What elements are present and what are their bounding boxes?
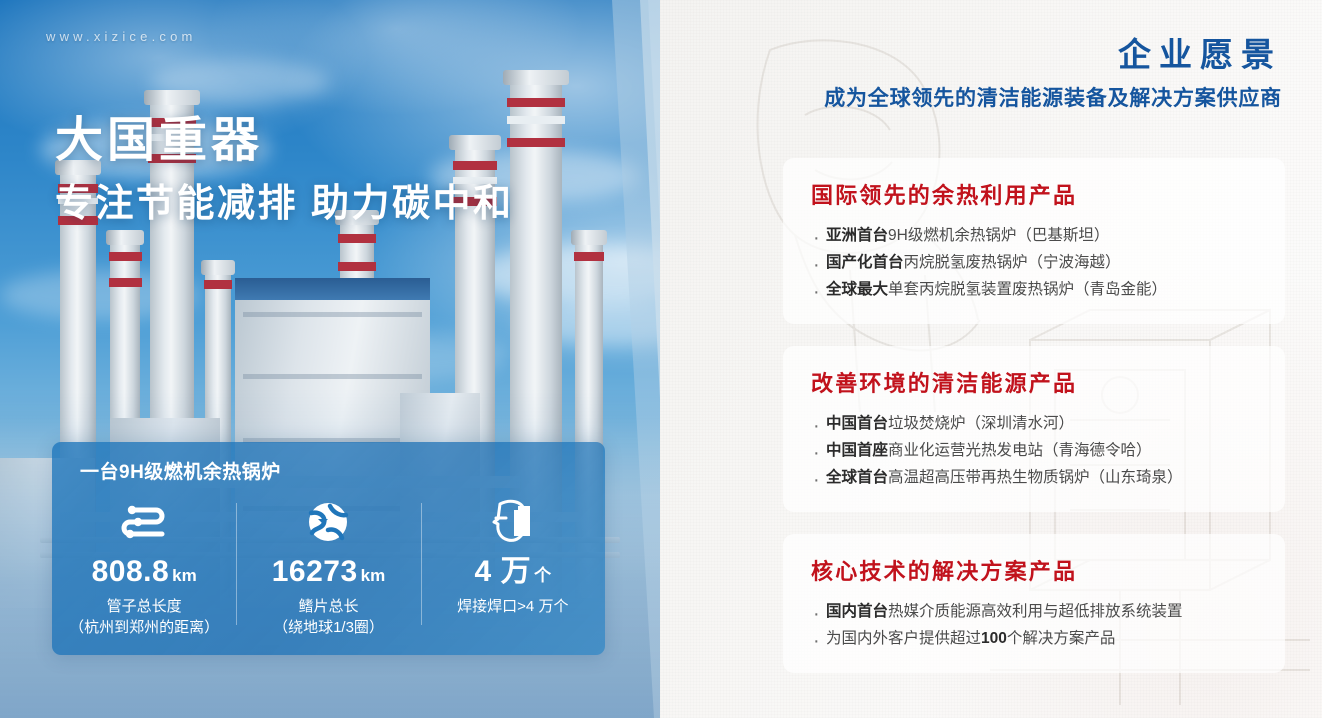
list-item: 全球首台高温超高压带再热生物质锅炉（山东琦泉） xyxy=(811,465,1259,492)
bullet-list: 中国首台垃圾焚烧炉（深圳清水河） 中国首座商业化运营光热发电站（青海德令哈） 全… xyxy=(811,411,1259,492)
card-title: 核心技术的解决方案产品 xyxy=(811,554,1259,586)
stat-item: 16273km 鳍片总长 （绕地球1/3圈） xyxy=(236,497,420,639)
list-item: 中国首座商业化运营光热发电站（青海德令哈） xyxy=(811,438,1259,465)
list-item: 中国首台垃圾焚烧炉（深圳清水河） xyxy=(811,411,1259,438)
stat-label: 管子总长度 （杭州到郑州的距离） xyxy=(69,596,219,639)
site-url-watermark: www.xizice.com xyxy=(46,29,197,44)
list-item: 国内首台热媒介质能源高效利用与超低排放系统装置 xyxy=(811,599,1259,626)
vision-card[interactable]: 改善环境的清洁能源产品 中国首台垃圾焚烧炉（深圳清水河） 中国首座商业化运营光热… xyxy=(783,346,1285,512)
vision-cards: 国际领先的余热利用产品 亚洲首台9H级燃机余热锅炉（巴基斯坦） 国产化首台丙烷脱… xyxy=(783,158,1285,695)
welding-helmet-icon xyxy=(488,497,538,547)
stat-value: 808.8km xyxy=(92,557,197,587)
stat-item: 4 万个 焊接焊口>4 万个 xyxy=(421,497,605,617)
coiled-pipe-icon xyxy=(116,497,172,547)
bullet-list: 亚洲首台9H级燃机余热锅炉（巴基斯坦） 国产化首台丙烷脱氢废热锅炉（宁波海越） … xyxy=(811,223,1259,304)
hero-headline: 大国重器 xyxy=(55,100,263,170)
globe-icon xyxy=(304,497,352,547)
stats-row: 808.8km 管子总长度 （杭州到郑州的距离） xyxy=(52,497,605,652)
vision-card[interactable]: 核心技术的解决方案产品 国内首台热媒介质能源高效利用与超低排放系统装置 为国内外… xyxy=(783,534,1285,673)
list-item: 全球最大单套丙烷脱氢装置废热锅炉（青岛金能） xyxy=(811,277,1259,304)
stat-label: 鳍片总长 （绕地球1/3圈） xyxy=(273,596,384,639)
stat-value: 4 万个 xyxy=(475,557,552,587)
page-title: 企业愿景 xyxy=(1118,28,1282,76)
list-item: 亚洲首台9H级燃机余热锅炉（巴基斯坦） xyxy=(811,223,1259,250)
page-subtitle: 成为全球领先的清洁能源装备及解决方案供应商 xyxy=(824,82,1282,112)
card-title: 国际领先的余热利用产品 xyxy=(811,178,1259,210)
bullet-list: 国内首台热媒介质能源高效利用与超低排放系统装置 为国内外客户提供超过100个解决… xyxy=(811,599,1259,653)
stats-panel-title: 一台9H级燃机余热锅炉 xyxy=(80,457,281,484)
hero-subheadline: 专注节能减排 助力碳中和 xyxy=(55,172,514,227)
vision-card[interactable]: 国际领先的余热利用产品 亚洲首台9H级燃机余热锅炉（巴基斯坦） 国产化首台丙烷脱… xyxy=(783,158,1285,324)
stat-label: 焊接焊口>4 万个 xyxy=(457,596,568,617)
stats-panel: 一台9H级燃机余热锅炉 808.8km xyxy=(52,442,605,655)
list-item: 为国内外客户提供超过100个解决方案产品 xyxy=(811,626,1259,653)
stat-item: 808.8km 管子总长度 （杭州到郑州的距离） xyxy=(52,497,236,639)
stat-value: 16273km xyxy=(272,557,386,587)
list-item: 国产化首台丙烷脱氢废热锅炉（宁波海越） xyxy=(811,250,1259,277)
slide-root: www.xizice.com 大国重器 专注节能减排 助力碳中和 一台9H级燃机… xyxy=(0,0,1322,718)
card-title: 改善环境的清洁能源产品 xyxy=(811,366,1259,398)
